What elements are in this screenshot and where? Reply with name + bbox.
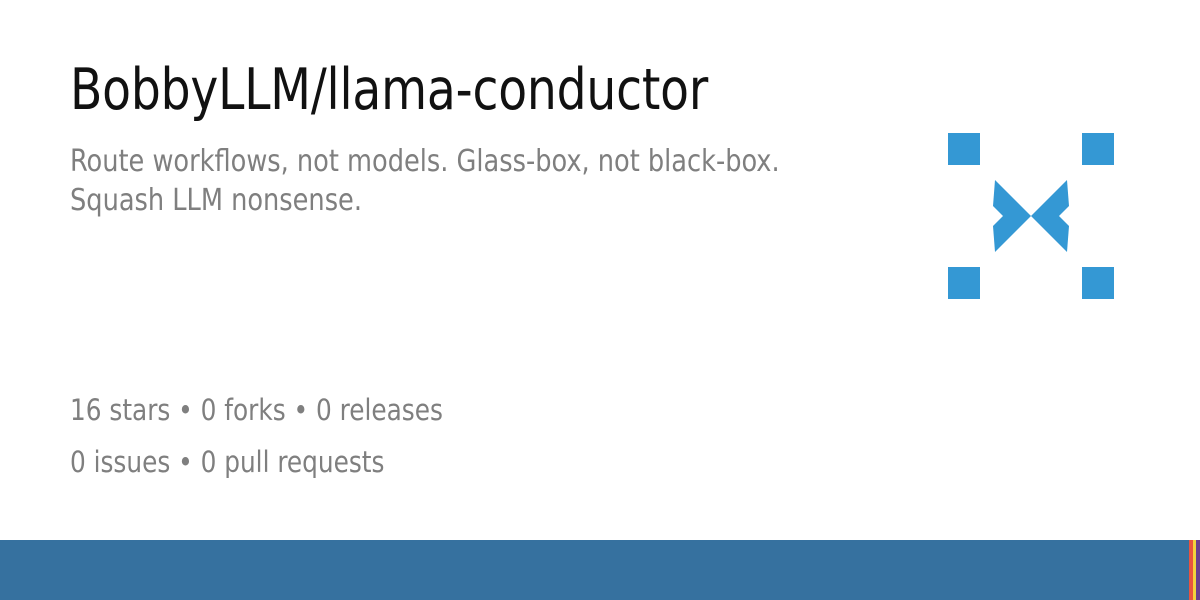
card-text-column: BobbyLLM/llama-conductor Route workflows… (70, 60, 900, 220)
logo-star-point-bottom-right (1031, 214, 1069, 252)
logo-square-bottom-left (948, 267, 980, 299)
logo-square-top-right (1082, 133, 1114, 165)
repository-description: Route workflows, not models. Glass-box, … (70, 122, 792, 220)
repository-logo (948, 133, 1114, 299)
logo-star-point-top-left (993, 180, 1031, 218)
logo-star-point-top-right (1031, 180, 1069, 218)
page-title: BobbyLLM/llama-conductor (70, 60, 834, 122)
logo-square-bottom-right (1082, 267, 1114, 299)
footer-stripe-purple (1196, 540, 1200, 600)
stats-line-secondary: 0 issues • 0 pull requests (70, 437, 443, 489)
stats-line-primary: 16 stars • 0 forks • 0 releases (70, 385, 443, 437)
repository-social-preview-card: BobbyLLM/llama-conductor Route workflows… (0, 0, 1200, 600)
footer-bar (0, 540, 1200, 600)
repository-stats: 16 stars • 0 forks • 0 releases 0 issues… (70, 385, 443, 488)
logo-star-point-bottom-left (993, 214, 1031, 252)
logo-square-top-left (948, 133, 980, 165)
